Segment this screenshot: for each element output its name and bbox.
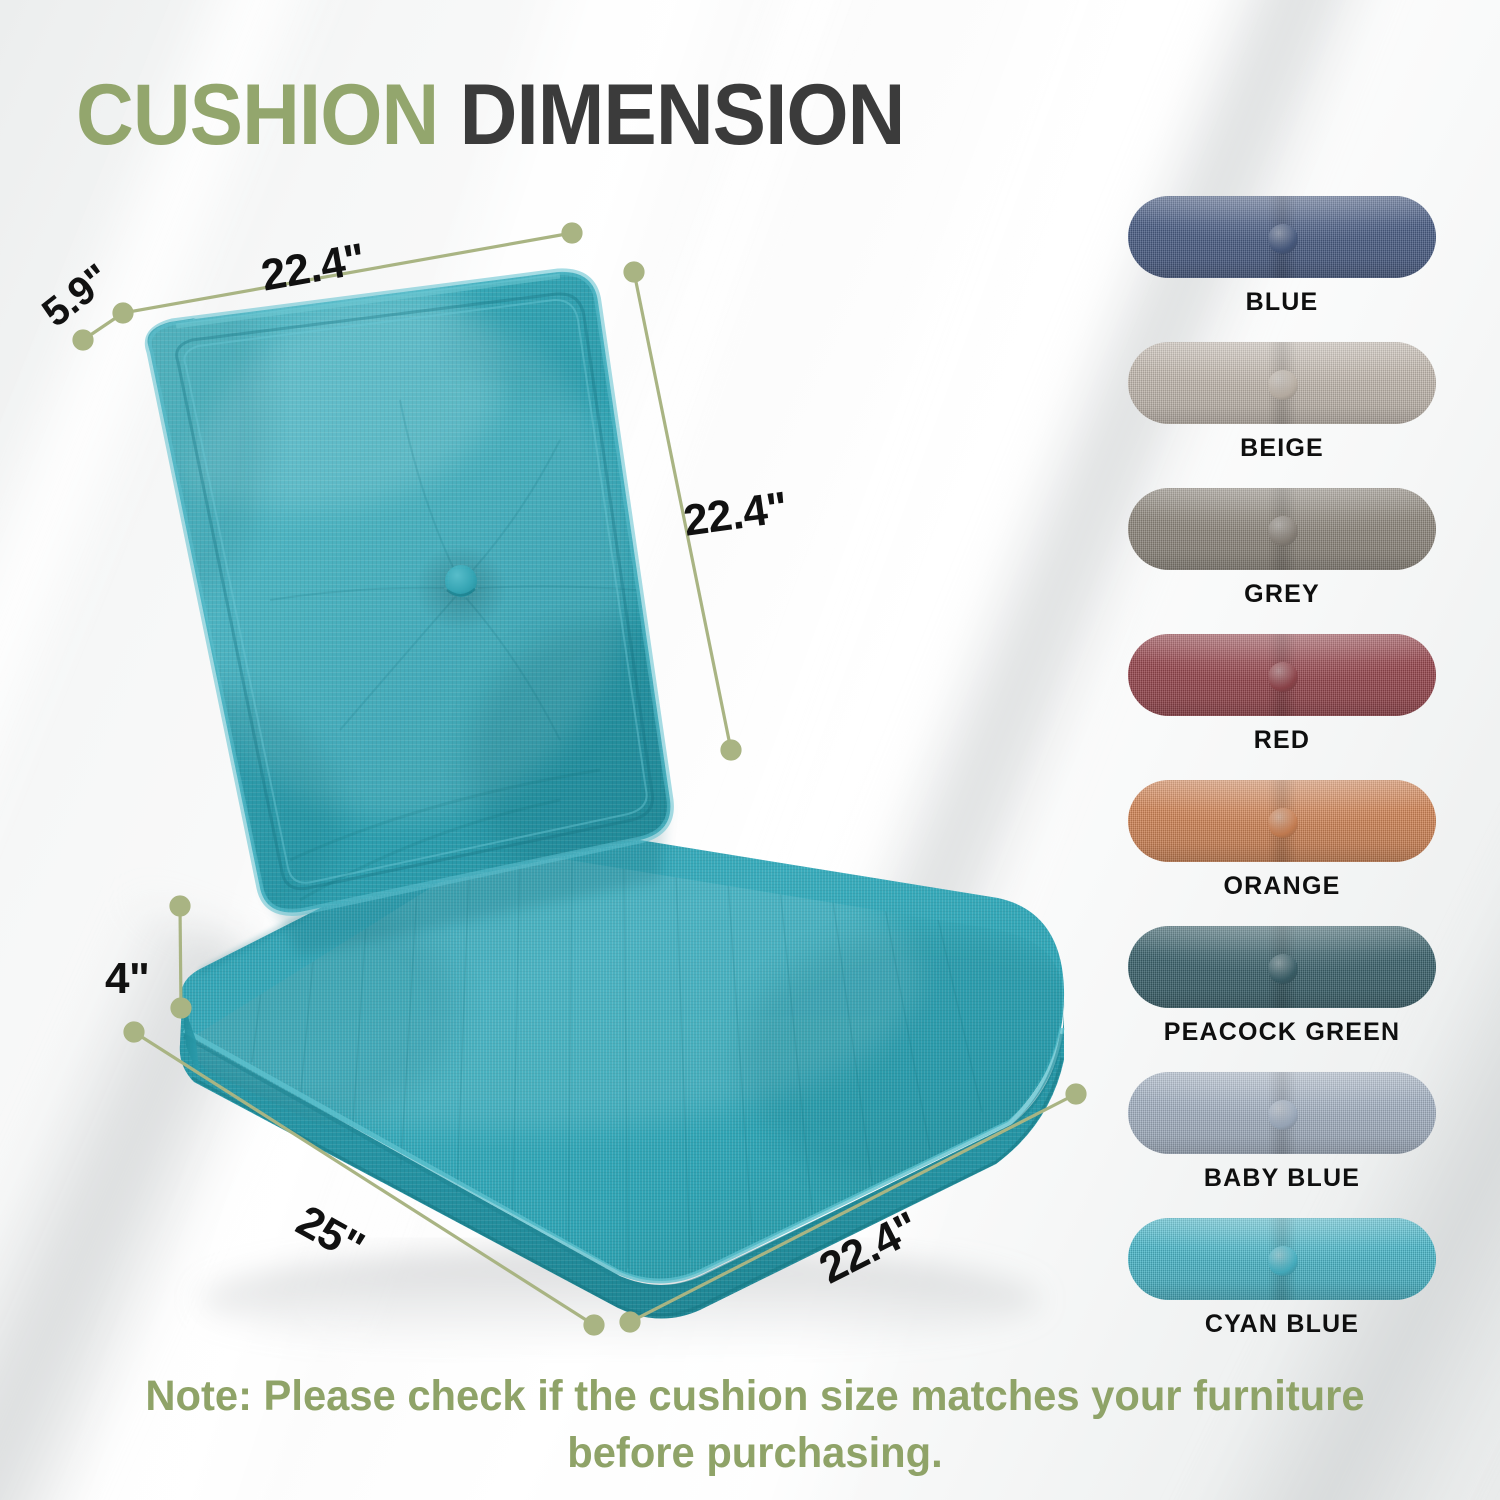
swatch-shading [1128, 342, 1436, 424]
dimension-label-seat-thickness: 4" [105, 954, 149, 1004]
note-line-2: before purchasing. [81, 1425, 1429, 1482]
infographic-canvas: CUSHION DIMENSION [0, 0, 1500, 1500]
list-item[interactable]: BEIGE [1128, 342, 1440, 488]
dimline-seat-thickness [180, 906, 181, 1008]
color-swatch-label: CYAN BLUE [1128, 1310, 1436, 1339]
list-item[interactable]: PEACOCK GREEN [1128, 926, 1440, 1072]
swatch-shading [1128, 196, 1436, 278]
dimension-annotations [0, 0, 1120, 1400]
color-swatch-label: GREY [1128, 580, 1436, 609]
color-swatch-label: RED [1128, 726, 1436, 755]
dimline-seat-width [630, 1094, 1076, 1322]
color-swatch-label: BABY BLUE [1128, 1164, 1436, 1193]
color-swatch-blue[interactable] [1128, 196, 1436, 278]
color-swatch-red[interactable] [1128, 634, 1436, 716]
swatch-shading [1128, 780, 1436, 862]
swatch-shading [1128, 1072, 1436, 1154]
dimline-seat-depth [134, 1032, 594, 1325]
list-item[interactable]: GREY [1128, 488, 1440, 634]
color-swatch-peacock-green[interactable] [1128, 926, 1436, 1008]
swatch-shading [1128, 926, 1436, 1008]
color-swatch-beige[interactable] [1128, 342, 1436, 424]
note-line-1: Note: Please check if the cushion size m… [81, 1368, 1429, 1425]
list-item[interactable]: ORANGE [1128, 780, 1440, 926]
list-item[interactable]: BABY BLUE [1128, 1072, 1440, 1218]
swatch-shading [1128, 1218, 1436, 1300]
color-swatch-label: BEIGE [1128, 434, 1436, 463]
list-item[interactable]: RED [1128, 634, 1440, 780]
swatch-shading [1128, 634, 1436, 716]
color-swatch-orange[interactable] [1128, 780, 1436, 862]
swatch-shading [1128, 488, 1436, 570]
purchase-note: Note: Please check if the cushion size m… [81, 1368, 1429, 1482]
color-options-list: BLUE BEIGE GREY [1128, 196, 1440, 1364]
list-item[interactable]: CYAN BLUE [1128, 1218, 1440, 1364]
color-swatch-label: ORANGE [1128, 872, 1436, 901]
color-swatch-label: BLUE [1128, 288, 1436, 317]
color-swatch-label: PEACOCK GREEN [1128, 1018, 1436, 1047]
color-swatch-grey[interactable] [1128, 488, 1436, 570]
color-swatch-baby-blue[interactable] [1128, 1072, 1436, 1154]
color-swatch-cyan-blue[interactable] [1128, 1218, 1436, 1300]
list-item[interactable]: BLUE [1128, 196, 1440, 342]
